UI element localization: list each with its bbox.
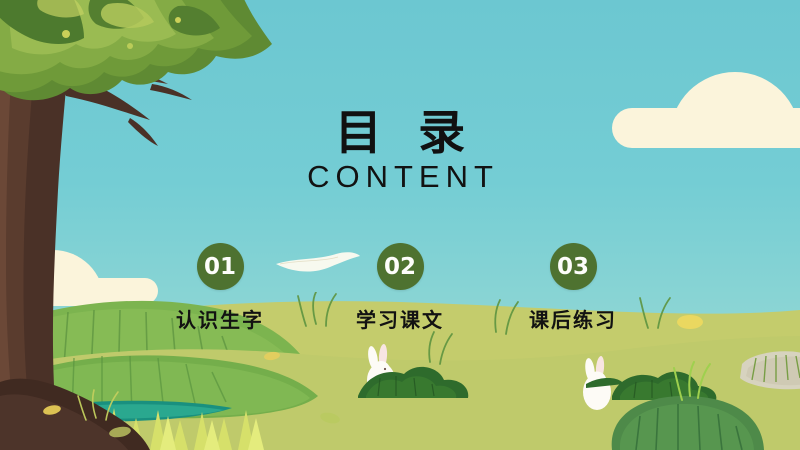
content-items: 01 认识生字 02 学习课文 03 课后练习 bbox=[0, 243, 800, 333]
content-item-1[interactable]: 01 认识生字 bbox=[145, 243, 295, 333]
item-number-badge-2[interactable]: 02 bbox=[377, 243, 424, 290]
item-label-3[interactable]: 课后练习 bbox=[498, 304, 648, 333]
item-label-2[interactable]: 学习课文 bbox=[325, 304, 475, 333]
content-item-3[interactable]: 03 课后练习 bbox=[498, 243, 648, 333]
stone-rock-icon bbox=[740, 351, 800, 389]
item-number-badge-1[interactable]: 01 bbox=[197, 243, 244, 290]
item-label-1[interactable]: 认识生字 bbox=[145, 304, 295, 333]
presentation-slide: 目 录 CONTENT 01 认识生字 02 学习课文 03 课后练习 bbox=[0, 0, 800, 450]
item-number-badge-3[interactable]: 03 bbox=[550, 243, 597, 290]
content-item-2[interactable]: 02 学习课文 bbox=[325, 243, 475, 333]
cloud-right-icon bbox=[612, 108, 800, 148]
